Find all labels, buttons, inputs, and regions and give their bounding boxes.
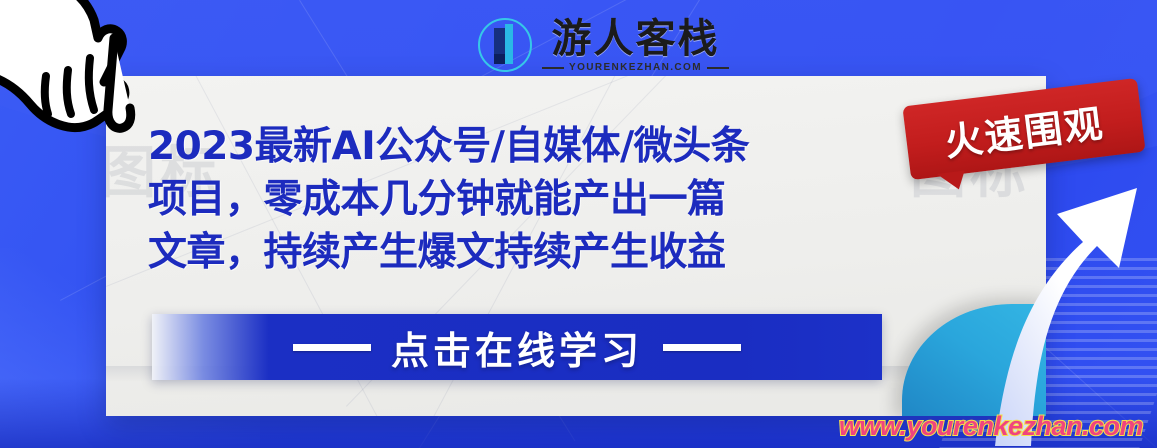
- pointing-hand-cursor-icon: [0, 0, 172, 168]
- growth-arrow-graphic: [987, 150, 1157, 448]
- brand-domain-text: YOURENKEZHAN.COM: [569, 62, 702, 73]
- brand-logo: 游人客栈 YOURENKEZHAN.COM: [474, 14, 729, 76]
- building-circle-logo-icon: [474, 14, 536, 76]
- promo-poster: 游人客栈 YOURENKEZHAN.COM 图标 图标 2023最新AI公众号/…: [0, 0, 1157, 448]
- cta-label: 点击在线学习: [391, 320, 643, 375]
- cta-dash-right-icon: [663, 344, 741, 351]
- brand-domain: YOURENKEZHAN.COM: [542, 62, 729, 73]
- headline-line-1: 2023最新AI公众号/自媒体/微头条: [148, 120, 968, 173]
- headline-line-3: 文章，持续产生爆文持续产生收益: [148, 226, 968, 279]
- upward-arrow-icon: [987, 150, 1157, 448]
- headline-line-2: 项目，零成本几分钟就能产出一篇: [148, 173, 968, 226]
- brand-dash-left: [542, 67, 564, 69]
- headline: 2023最新AI公众号/自媒体/微头条 项目，零成本几分钟就能产出一篇 文章，持…: [148, 120, 968, 279]
- cta-banner[interactable]: 点击在线学习: [152, 314, 882, 380]
- brand-dash-right: [707, 67, 729, 69]
- footer-url: www.yourenkezhan.com: [839, 411, 1143, 442]
- brand-name: 游人客栈: [551, 17, 719, 61]
- cta-dash-left-icon: [293, 344, 371, 351]
